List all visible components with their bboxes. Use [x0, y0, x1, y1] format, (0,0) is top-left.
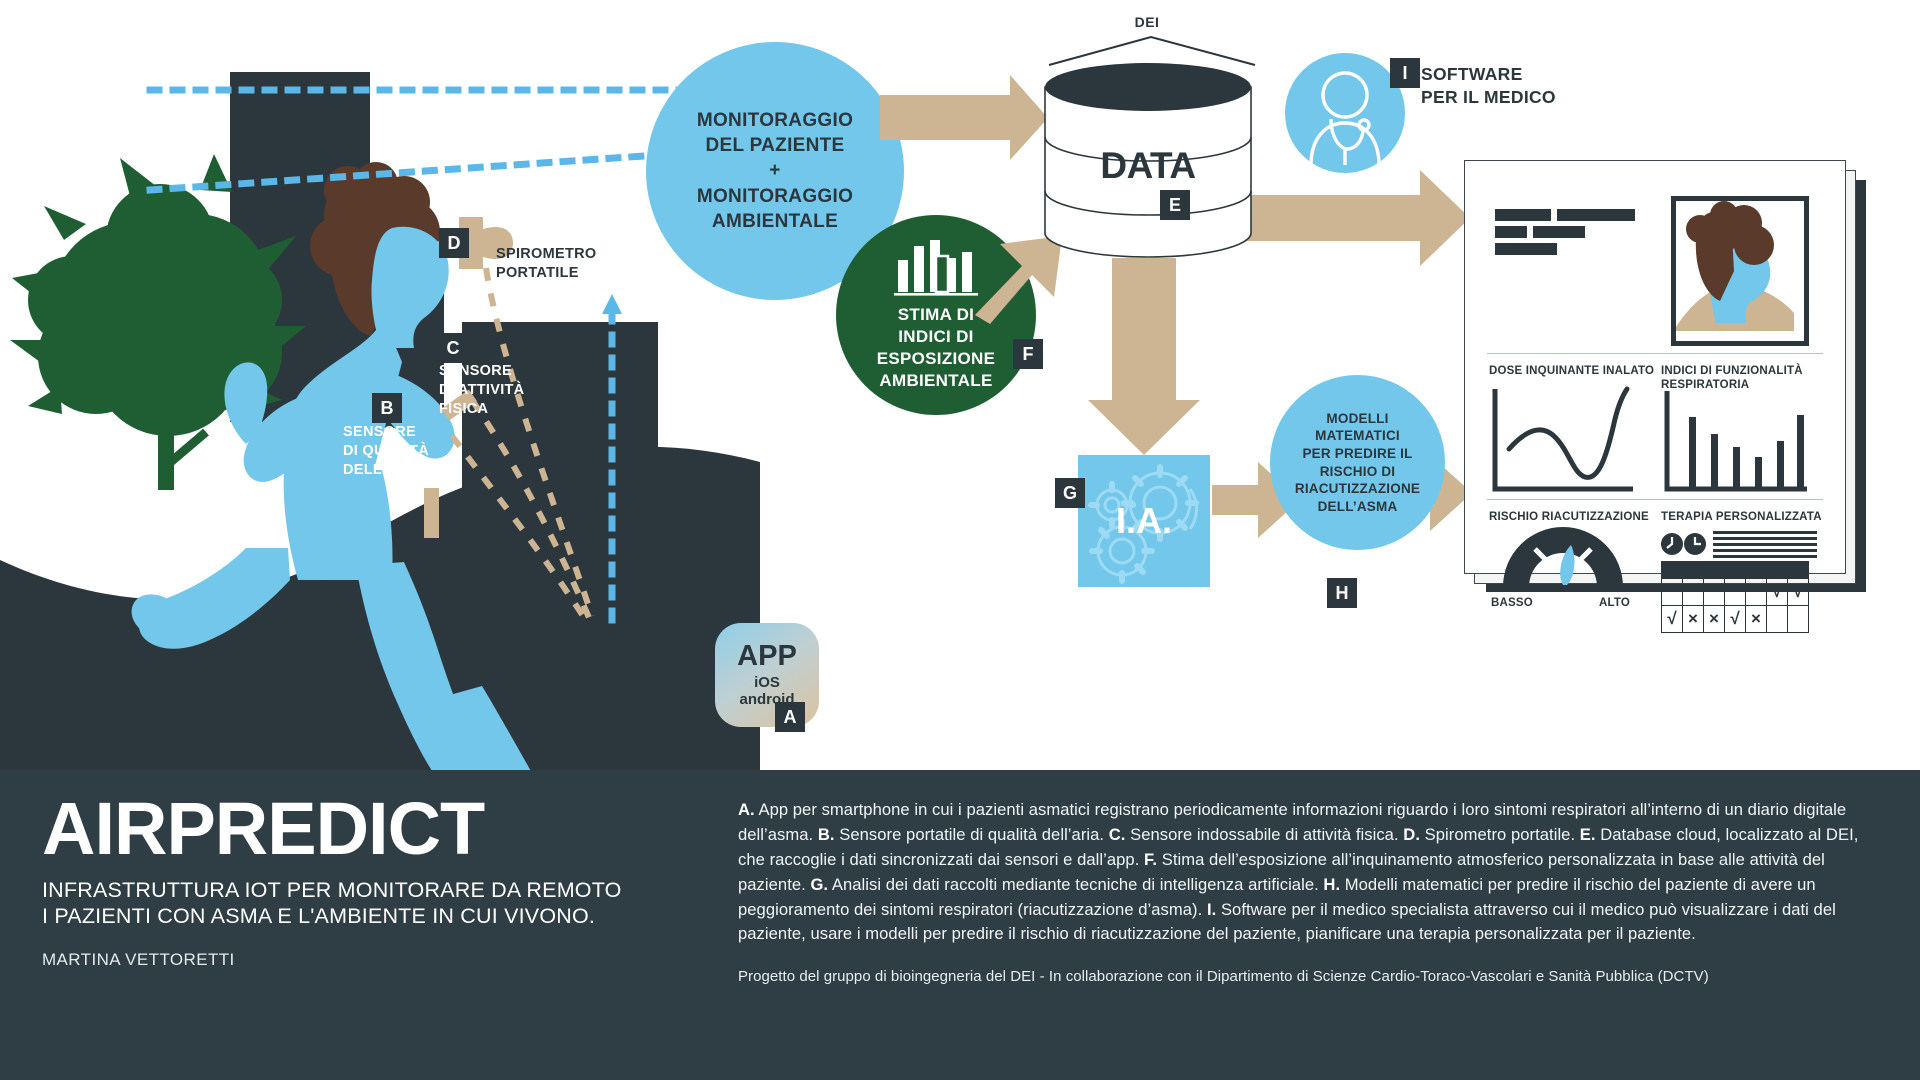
chart-title-risk: RISCHIO RIACUTIZZAZIONE	[1489, 511, 1649, 525]
software-doctor-label: SOFTWARE PER IL MEDICO	[1421, 63, 1556, 109]
infographic-canvas: D SPIROMETRO PORTATILE C SENSORE DI ATTI…	[0, 0, 1920, 1080]
label-spirometer-line2: PORTATILE	[496, 264, 676, 283]
therapy-cell-r2c4[interactable]: √	[1725, 606, 1746, 633]
models-line3: PER PREDIRE IL	[1295, 445, 1420, 463]
label-air-sensor: SENSORE DI QUALITÀ DELL’ARIA	[343, 423, 503, 480]
patient-photo-frame	[1671, 196, 1809, 346]
database-label: DATA	[1043, 145, 1253, 187]
label-activity-line1: SENSORE	[439, 362, 589, 381]
therapy-cell-r2c7[interactable]	[1788, 606, 1809, 633]
models-line2: MATEMATICI	[1295, 427, 1420, 445]
legend-key-a: A.	[738, 800, 755, 819]
therapy-cell-r1c1[interactable]	[1662, 579, 1683, 606]
chart-title-resp-line1: INDICI DI FUNZIONALITÀ	[1661, 365, 1821, 379]
exposure-index-circle[interactable]: STIMA DI INDICI DI ESPOSIZIONE AMBIENTAL…	[836, 215, 1036, 415]
legend-key-c: C.	[1109, 825, 1126, 844]
header-textbar-4	[1533, 226, 1585, 238]
therapy-cell-r2c5[interactable]: ×	[1746, 606, 1767, 633]
gauge-label-high: ALTO	[1599, 597, 1630, 609]
gauge-chart-risk	[1493, 529, 1641, 591]
line-chart-dose	[1489, 385, 1639, 497]
app-title: APP	[737, 642, 797, 671]
clock-icons	[1661, 531, 1705, 557]
therapy-cell-r1c5[interactable]	[1746, 579, 1767, 606]
badge-g: G	[1055, 478, 1085, 508]
therapy-cell-r2c2[interactable]: ×	[1683, 606, 1704, 633]
monitoring-line3: +	[697, 158, 853, 183]
models-line4: RISCHIO DI	[1295, 463, 1420, 481]
label-activity-line3: FISICA	[439, 400, 589, 419]
models-line1: MODELLI	[1295, 410, 1420, 428]
exposure-circle-text: STIMA DI INDICI DI ESPOSIZIONE AMBIENTAL…	[877, 304, 996, 392]
therapy-cell-r2c1[interactable]: √	[1662, 606, 1683, 633]
gauge-label-low: BASSO	[1491, 597, 1533, 609]
doctor-circle[interactable]	[1285, 53, 1405, 173]
database-cylinder[interactable]: DATA	[1043, 63, 1253, 258]
therapy-table-header-row	[1662, 562, 1809, 579]
therapy-table[interactable]: √ √ √ × × √ ×	[1661, 561, 1809, 633]
legend-text-g: Analisi dei dati raccolti mediante tecni…	[828, 875, 1323, 894]
doctor-icon	[1285, 53, 1405, 173]
header-textbar-3	[1495, 226, 1527, 238]
models-circle-text: MODELLI MATEMATICI PER PREDIRE IL RISCHI…	[1295, 410, 1420, 515]
table-row: √ × × √ ×	[1662, 606, 1809, 633]
legend-key-d: D.	[1403, 825, 1420, 844]
exposure-line2: INDICI DI	[877, 326, 996, 348]
exposure-line1: STIMA DI	[877, 304, 996, 326]
app-os-ios: iOS	[754, 675, 780, 692]
models-line6: DELL’ASMA	[1295, 498, 1420, 516]
tagline-line2: I PAZIENTI CON ASMA E L'AMBIENTE IN CUI …	[42, 903, 702, 929]
legend-key-i: I.	[1207, 900, 1216, 919]
therapy-table-header-cell	[1662, 562, 1809, 579]
header-textbar-5	[1495, 243, 1557, 255]
page-title: AIRPREDICT	[42, 795, 702, 863]
bar-chart-resp	[1661, 389, 1811, 497]
label-air-line3: DELL’ARIA	[343, 461, 503, 480]
badge-i: I	[1390, 58, 1420, 88]
legend-text-c: Sensore indossabile di attività fisica.	[1125, 825, 1403, 844]
tagline: INFRASTRUTTURA IOT PER MONITORARE DA REM…	[42, 877, 702, 929]
author-name: MARTINA VETTORETTI	[42, 950, 702, 970]
monitoring-line4: MONITORAGGIO	[697, 184, 853, 209]
therapy-cell-r1c2[interactable]	[1683, 579, 1704, 606]
title-block: AIRPREDICT INFRASTRUTTURA IOT PER MONITO…	[42, 795, 702, 970]
badge-e: E	[1160, 190, 1190, 220]
therapy-cell-r2c6[interactable]	[1767, 606, 1788, 633]
illustration-scene	[0, 0, 760, 780]
therapy-cell-r2c3[interactable]: ×	[1704, 606, 1725, 633]
header-textbar-2	[1557, 209, 1635, 221]
software-line2: PER IL MEDICO	[1421, 86, 1556, 109]
doctor-software-panel[interactable]: DOSE INQUINANTE INALATO INDICI DI FUNZIO…	[1464, 160, 1866, 592]
badge-b: B	[372, 393, 402, 423]
therapy-cell-r1c7[interactable]: √	[1788, 579, 1809, 606]
legend-text-b: Sensore portatile di qualità dell’aria.	[835, 825, 1109, 844]
software-line1: SOFTWARE	[1421, 63, 1556, 86]
badge-c: C	[438, 333, 468, 363]
label-air-line1: SENSORE	[343, 423, 503, 442]
monitoring-line5: AMBIENTALE	[697, 209, 853, 234]
badge-h: H	[1327, 578, 1357, 608]
scene-artwork	[0, 0, 760, 780]
legend-credit: Progetto del gruppo di bioingegneria del…	[738, 966, 1878, 989]
monitoring-line1: MONITORAGGIO	[697, 108, 853, 133]
therapy-cell-r1c4[interactable]	[1725, 579, 1746, 606]
ai-label: I.A.	[1078, 455, 1210, 587]
tagline-line1: INFRASTRUTTURA IOT PER MONITORARE DA REM…	[42, 877, 702, 903]
models-line5: RIACUTIZZAZIONE	[1295, 480, 1420, 498]
bar-chart-icon	[892, 238, 980, 298]
header-textbar-1	[1495, 209, 1551, 221]
panel-divider-1	[1487, 353, 1823, 354]
label-spirometer: SPIROMETRO PORTATILE	[496, 245, 676, 283]
panel-divider-2	[1487, 499, 1823, 500]
dei-label: DEI	[1097, 14, 1197, 30]
legend-key-f: F.	[1144, 850, 1157, 869]
chart-title-therapy: TERAPIA PERSONALIZZATA	[1661, 511, 1822, 525]
legend-key-e: E.	[1580, 825, 1596, 844]
label-spirometer-line1: SPIROMETRO	[496, 245, 676, 264]
table-row: √ √	[1662, 579, 1809, 606]
therapy-cell-r1c6[interactable]: √	[1767, 579, 1788, 606]
badge-a: A	[775, 702, 805, 732]
panel-sheet-front: DOSE INQUINANTE INALATO INDICI DI FUNZIO…	[1464, 160, 1846, 574]
ai-box[interactable]: I.A.	[1078, 455, 1210, 587]
badge-d: D	[439, 228, 469, 258]
models-circle[interactable]: MODELLI MATEMATICI PER PREDIRE IL RISCHI…	[1270, 375, 1445, 550]
legend-key-h: H.	[1323, 875, 1340, 894]
therapy-stripes	[1713, 531, 1817, 561]
label-activity-sensor: SENSORE DI ATTIVITÀ FISICA	[439, 362, 589, 419]
exposure-line3: ESPOSIZIONE	[877, 348, 996, 370]
legend-text: A. App per smartphone in cui i pazienti …	[738, 798, 1878, 989]
monitoring-circle-text: MONITORAGGIO DEL PAZIENTE + MONITORAGGIO…	[697, 108, 853, 233]
label-air-line2: DI QUALITÀ	[343, 442, 503, 461]
legend-key-g: G.	[810, 875, 828, 894]
legend-key-b: B.	[818, 825, 835, 844]
exposure-line4: AMBIENTALE	[877, 370, 996, 392]
legend-text-d: Spirometro portatile.	[1420, 825, 1580, 844]
badge-f: F	[1013, 339, 1043, 369]
patient-portrait-icon	[1676, 201, 1794, 331]
air-quality-sensor-icon	[424, 488, 439, 538]
label-activity-line2: DI ATTIVITÀ	[439, 381, 589, 400]
monitoring-line2: DEL PAZIENTE	[697, 133, 853, 158]
therapy-cell-r1c3[interactable]	[1704, 579, 1725, 606]
chart-title-dose: DOSE INQUINANTE INALATO	[1489, 365, 1654, 379]
